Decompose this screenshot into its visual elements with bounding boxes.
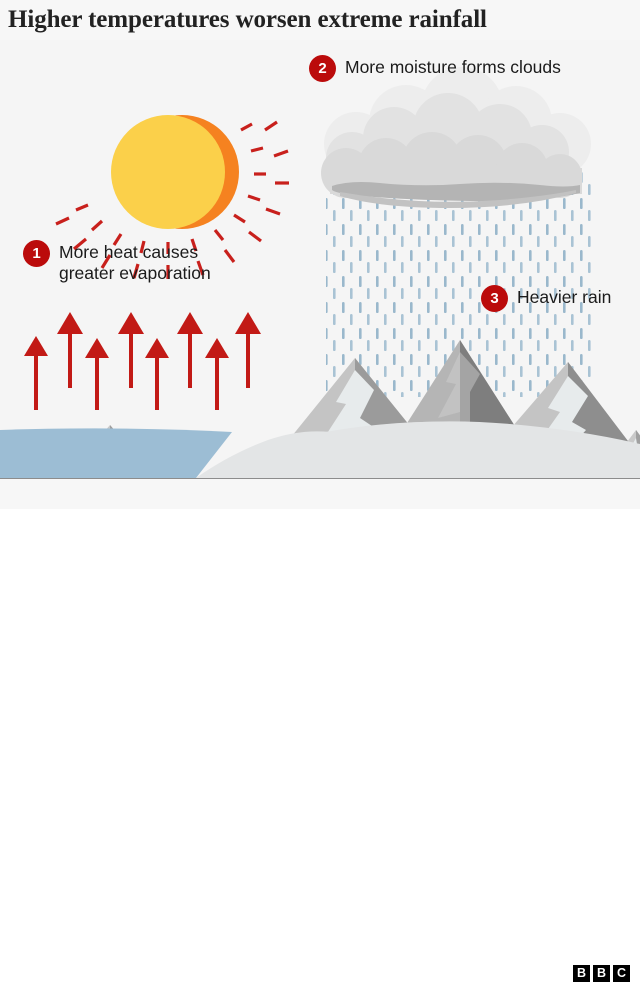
- footer: B B C: [0, 479, 640, 509]
- callout-1-label: More heat causes greater evaporation: [59, 240, 211, 284]
- bbc-logo-letter-2: B: [593, 965, 610, 982]
- water-body: [0, 428, 232, 478]
- callout-1-badge: 1: [23, 240, 50, 267]
- bbc-logo-letter-1: B: [573, 965, 590, 982]
- callout-2-label: More moisture forms clouds: [345, 55, 561, 78]
- callout-2: 2 More moisture forms clouds: [309, 55, 561, 82]
- page-title: Higher temperatures worsen extreme rainf…: [8, 4, 632, 38]
- infographic-root: Higher temperatures worsen extreme rainf…: [0, 0, 640, 509]
- bbc-logo: B B C: [573, 965, 630, 982]
- callout-3-badge: 3: [481, 285, 508, 312]
- callout-1: 1 More heat causes greater evaporation: [23, 240, 211, 284]
- callout-3-label: Heavier rain: [517, 285, 611, 308]
- callout-3: 3 Heavier rain: [481, 285, 611, 312]
- bbc-logo-letter-3: C: [613, 965, 630, 982]
- callout-2-badge: 2: [309, 55, 336, 82]
